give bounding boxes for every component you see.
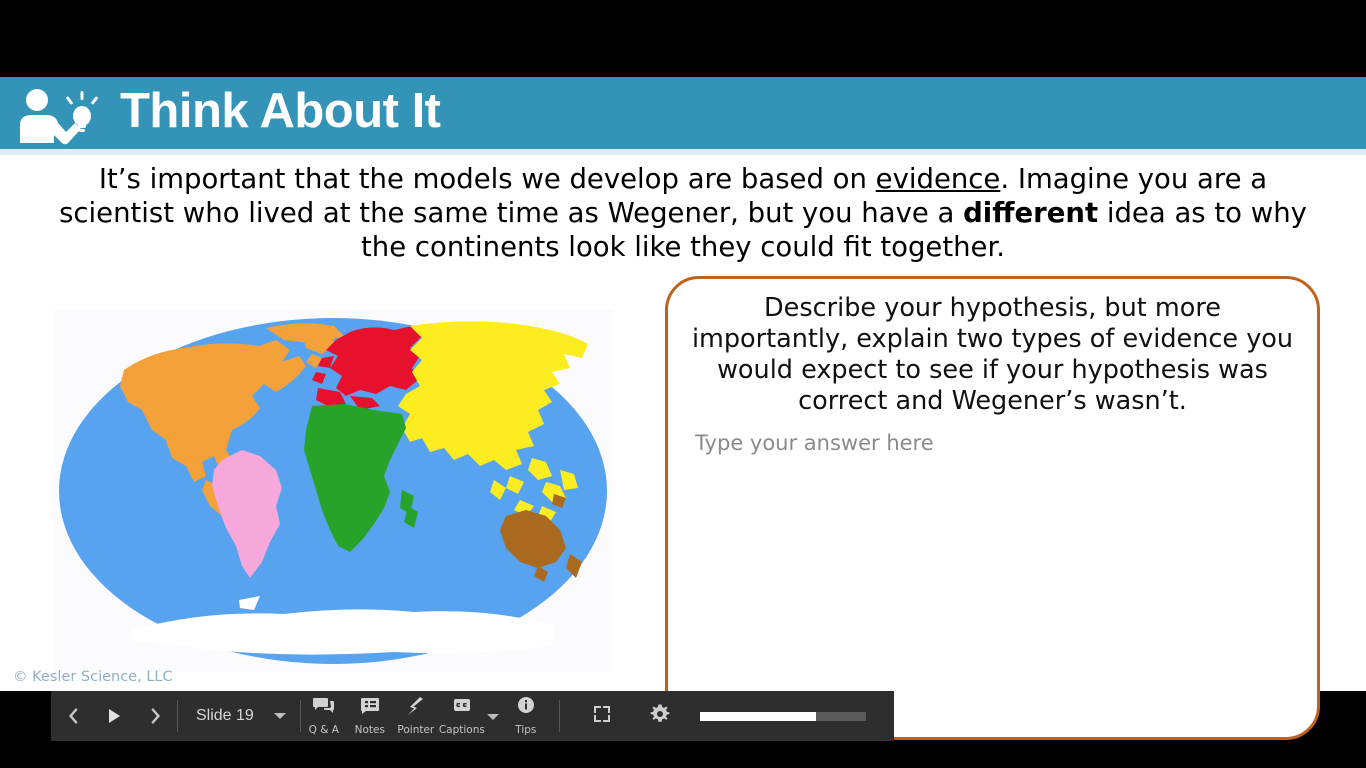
play-button[interactable] xyxy=(93,691,135,741)
tips-button[interactable]: Tips xyxy=(503,691,549,741)
settings-button[interactable] xyxy=(638,691,682,741)
qa-button[interactable]: Q & A xyxy=(301,691,347,741)
intro-bold-word: different xyxy=(963,197,1098,229)
fullscreen-icon xyxy=(591,703,613,730)
info-circle-icon xyxy=(515,696,537,721)
captions-label: Captions xyxy=(439,724,485,736)
toolbar-divider xyxy=(559,700,560,732)
captions-button[interactable]: Captions xyxy=(439,691,485,741)
copyright-notice: © Kesler Science, LLC xyxy=(13,669,173,685)
screen: Think About It It’s important that the m… xyxy=(0,0,1366,768)
tips-label: Tips xyxy=(515,724,536,736)
captions-dropdown-icon[interactable] xyxy=(487,714,499,720)
answer-response-box[interactable]: Describe your hypothesis, but more impor… xyxy=(665,276,1320,740)
intro-text-a: It’s important that the models we develo… xyxy=(99,163,876,195)
next-slide-button[interactable] xyxy=(135,691,177,741)
speech-bubbles-icon xyxy=(313,696,335,721)
player-toolbar: Slide 19 Q & A xyxy=(51,691,894,741)
slide-number-label: Slide 19 xyxy=(196,707,254,725)
pointer-bolt-icon xyxy=(405,696,427,721)
slide-canvas: Think About It It’s important that the m… xyxy=(0,77,1366,691)
progress-fill xyxy=(700,712,816,721)
fullscreen-button[interactable] xyxy=(580,691,624,741)
pointer-label: Pointer xyxy=(397,724,434,736)
chevron-down-icon xyxy=(274,713,286,719)
notes-label: Notes xyxy=(355,724,385,736)
banner-underline xyxy=(0,149,1366,155)
previous-slide-button[interactable] xyxy=(51,691,93,741)
notes-bubble-icon xyxy=(359,696,381,721)
pointer-button[interactable]: Pointer xyxy=(393,691,439,741)
intro-paragraph: It’s important that the models we develo… xyxy=(48,162,1318,264)
slide-selector[interactable]: Slide 19 xyxy=(178,691,300,741)
closed-captions-icon xyxy=(451,696,473,721)
person-with-lightbulb-icon xyxy=(12,85,98,145)
qa-label: Q & A xyxy=(309,724,339,736)
intro-underlined-word: evidence xyxy=(876,163,1001,195)
progress-slider[interactable] xyxy=(700,712,866,721)
slide-header-banner: Think About It xyxy=(0,77,1366,149)
gear-icon xyxy=(649,703,671,730)
answer-input[interactable]: Type your answer here xyxy=(695,431,1299,611)
notes-button[interactable]: Notes xyxy=(347,691,393,741)
answer-prompt-text: Describe your hypothesis, but more impor… xyxy=(686,293,1299,417)
banner-title: Think About It xyxy=(120,87,441,140)
world-map-image xyxy=(54,310,613,672)
